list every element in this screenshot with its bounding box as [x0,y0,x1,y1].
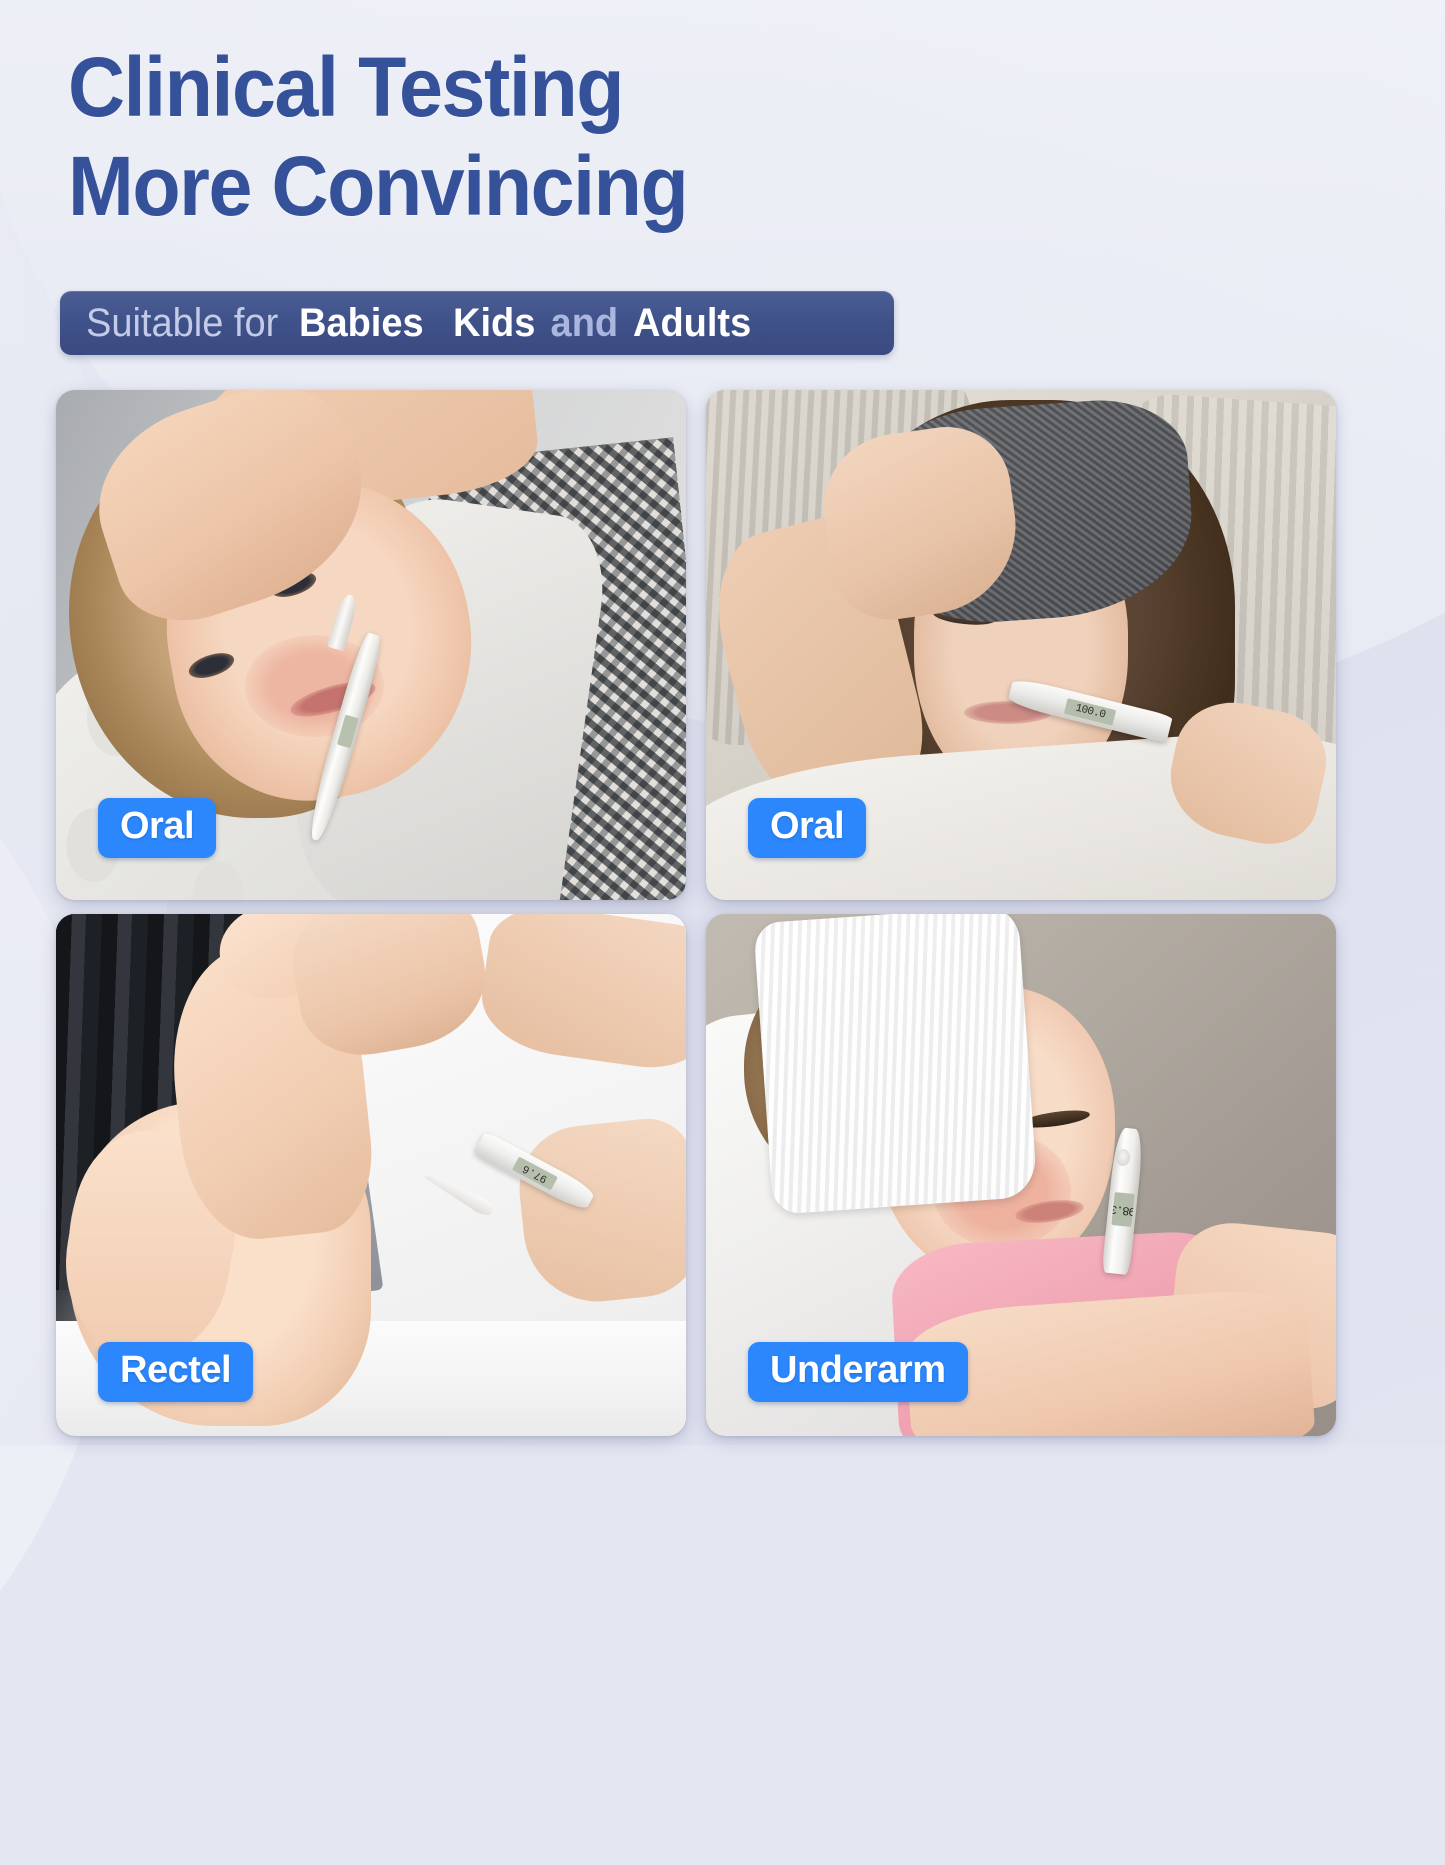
usage-photo-grid: Oral 100.0 Oral [56,390,1336,1436]
headline-line-2: More Convincing [68,145,914,228]
badge-label: Underarm [770,1351,946,1391]
banner-prefix: Suitable for [86,303,289,343]
headline-line-1: Clinical Testing [68,46,914,129]
headline-block: Clinical Testing More Convincing [68,46,968,228]
badge-underarm-child: Underarm [748,1342,968,1402]
banner-gap [431,303,452,343]
badge-label: Oral [770,807,844,847]
thermometer-lcd: 98.3 [1111,1192,1135,1227]
banner-connector: and [540,303,629,343]
panel-oral-child[interactable]: Oral [56,390,686,900]
panel-underarm-child[interactable]: 98.3 Underarm [706,914,1336,1436]
white-towel-on-forehead [753,914,1037,1215]
suitable-for-banner: Suitable for Babies Kids and Adults [60,291,894,355]
thermometer-reading: 98.3 [1111,1202,1135,1219]
badge-rectal-baby: Rectel [98,1342,253,1402]
badge-label: Rectel [120,1351,231,1391]
banner-word-kids: Kids [453,303,535,343]
banner-word-babies: Babies [299,303,424,343]
panel-rectal-baby[interactable]: 97.6 Rectel [56,914,686,1436]
badge-oral-child: Oral [98,798,216,858]
banner-word-adults: Adults [633,303,751,343]
badge-oral-adult: Oral [748,798,866,858]
badge-label: Oral [120,807,194,847]
panel-oral-adult[interactable]: 100.0 Oral [706,390,1336,900]
